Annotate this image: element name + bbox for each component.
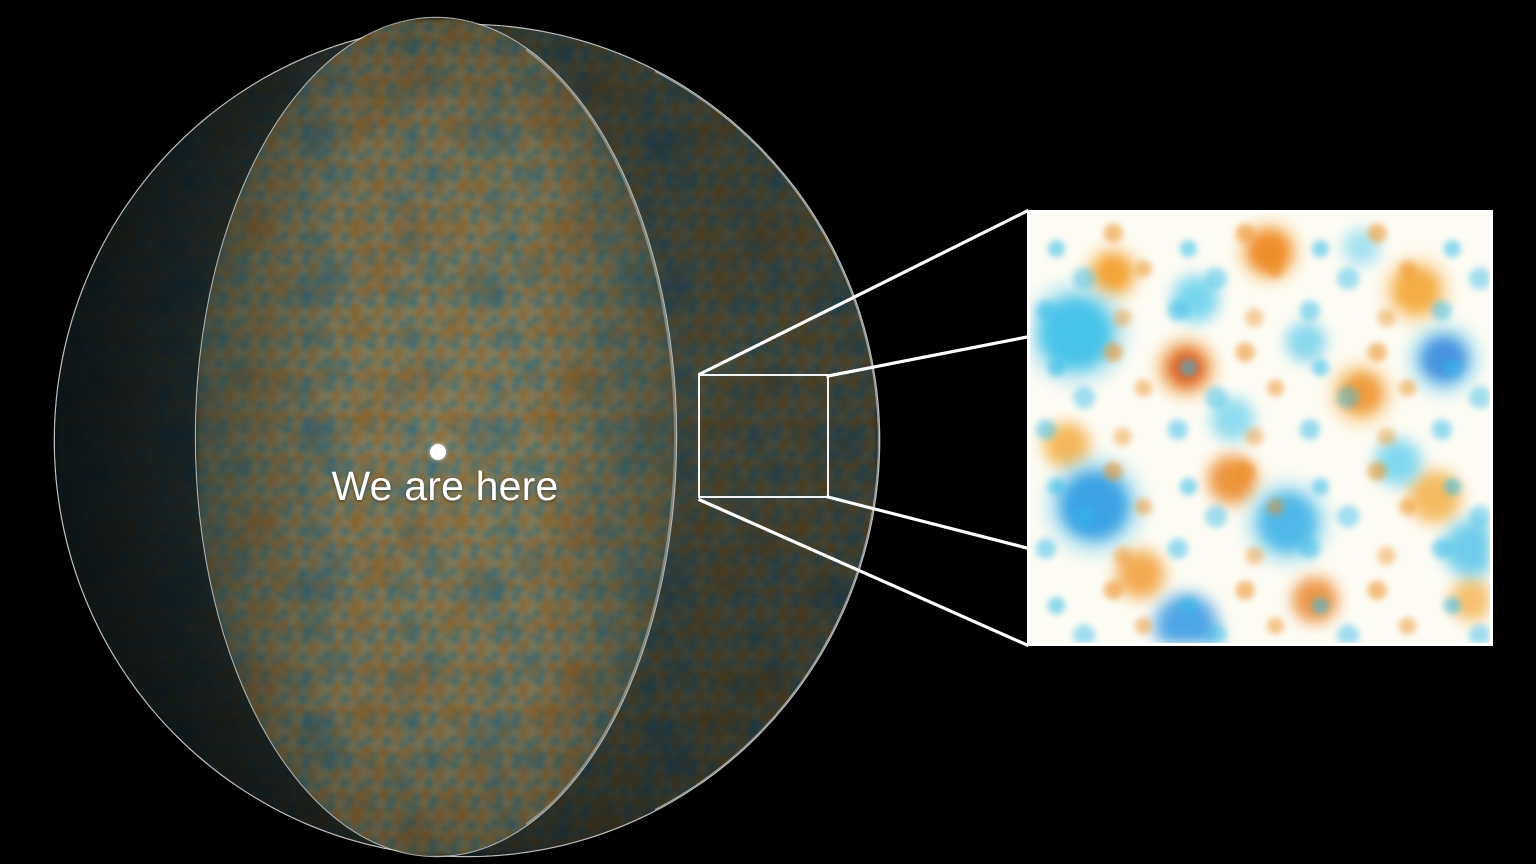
figure-canvas: We are here: [0, 0, 1536, 864]
observer-position-dot: [430, 444, 446, 460]
inset-fine-detail: [1030, 213, 1490, 643]
zoom-source-patch[interactable]: [698, 374, 829, 498]
cmb-zoom-inset[interactable]: [1027, 210, 1493, 646]
